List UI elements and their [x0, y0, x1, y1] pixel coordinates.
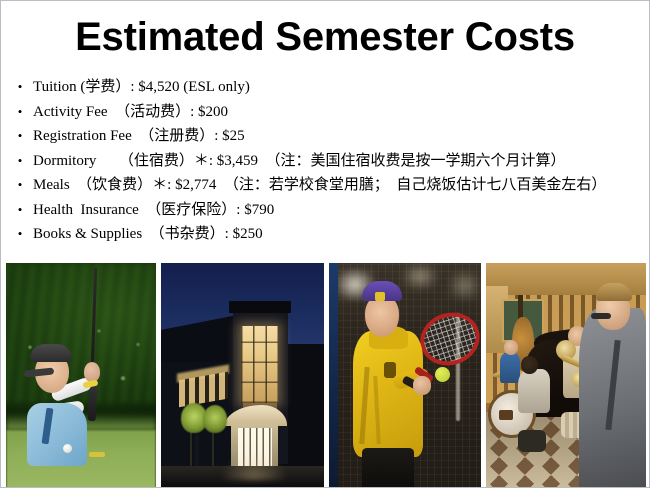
- tennis-player-photo: [329, 263, 481, 488]
- golfer-on-green-photo: [6, 263, 156, 488]
- list-item-label: Dormitory （住宿费）＊: $3,459 （注：美国住宿收费是按一学期六…: [33, 151, 647, 171]
- list-item: • Health Insurance （医疗保险）: $790: [7, 200, 647, 220]
- list-item: • Meals （饮食费）＊: $2,774 （注：若学校食堂用膳； 自己烧饭估…: [7, 175, 647, 195]
- list-item: • Books & Supplies （书杂费）: $250: [7, 224, 647, 244]
- bullet-icon: •: [7, 126, 33, 146]
- student-band-rehearsal-photo: [486, 263, 646, 488]
- page-title: Estimated Semester Costs: [1, 15, 649, 59]
- bullet-icon: •: [7, 77, 33, 97]
- campus-building-at-dusk-photo: [161, 263, 324, 488]
- photo-strip: [6, 263, 646, 488]
- bullet-icon: •: [7, 151, 33, 171]
- list-item: • Registration Fee （注册费）: $25: [7, 126, 647, 146]
- cost-bullet-list: • Tuition (学费）: $4,520 (ESL only) • Acti…: [7, 77, 647, 249]
- presentation-slide: Estimated Semester Costs • Tuition (学费）:…: [0, 0, 650, 488]
- bullet-icon: •: [7, 175, 33, 195]
- bullet-icon: •: [7, 102, 33, 122]
- list-item: • Tuition (学费）: $4,520 (ESL only): [7, 77, 647, 97]
- list-item-label: Activity Fee （活动费）: $200: [33, 102, 647, 122]
- list-item-label: Health Insurance （医疗保险）: $790: [33, 200, 647, 220]
- list-item-label: Meals （饮食费）＊: $2,774 （注：若学校食堂用膳； 自己烧饭估计七…: [33, 175, 647, 195]
- list-item: • Activity Fee （活动费）: $200: [7, 102, 647, 122]
- bullet-icon: •: [7, 224, 33, 244]
- bullet-icon: •: [7, 200, 33, 220]
- list-item: • Dormitory （住宿费）＊: $3,459 （注：美国住宿收费是按一学…: [7, 151, 647, 171]
- list-item-label: Books & Supplies （书杂费）: $250: [33, 224, 647, 244]
- list-item-label: Registration Fee （注册费）: $25: [33, 126, 647, 146]
- list-item-label: Tuition (学费）: $4,520 (ESL only): [33, 77, 647, 97]
